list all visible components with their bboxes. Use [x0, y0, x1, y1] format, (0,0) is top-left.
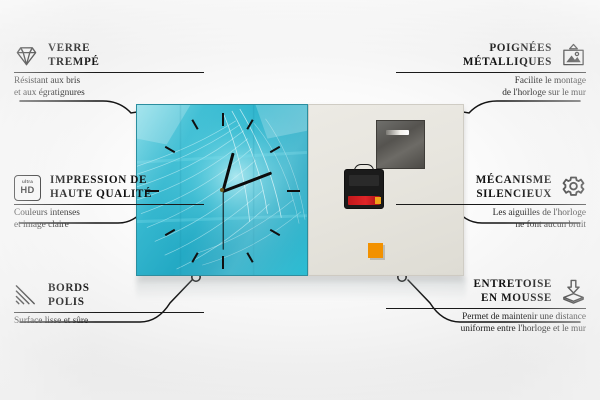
handle-slot [386, 130, 409, 135]
clock-hand-second [222, 192, 223, 250]
feature-description: Les aiguilles de l'horloge ne font aucun… [396, 208, 586, 231]
feature-title: POIGNÉES MÉTALLIQUES [463, 42, 552, 69]
clock-center-cap [220, 188, 224, 192]
feature-description: Permet de maintenir une distance uniform… [386, 312, 586, 335]
feature-divider [14, 72, 204, 73]
clock-tick [222, 256, 224, 269]
feature-divider [396, 72, 586, 73]
diamond-icon [14, 43, 39, 68]
battery-terminal [375, 197, 381, 204]
feature-title: IMPRESSION DE HAUTE QUALITÉ [50, 174, 152, 201]
feature-description: Surface lisse et sûre [14, 316, 204, 327]
polished-edge-icon [14, 283, 39, 308]
feature-description: Facilite le montage de l'horloge sur le … [396, 76, 586, 99]
ultra-hd-icon-main-label: HD [20, 185, 34, 194]
feature-description: Couleurs intenses et image claire [14, 208, 204, 231]
feature-title: MÉCANISME SILENCIEUX [476, 174, 552, 201]
feature-description: Résistant aux bris et aux égratignures [14, 76, 204, 99]
clock-tick [222, 113, 224, 126]
feature-header: ultra HD IMPRESSION DE HAUTE QUALITÉ [14, 174, 204, 201]
feature-bords-polis: BORDS POLIS Surface lisse et sûre [14, 282, 204, 328]
feature-mecanisme-silencieux: MÉCANISME SILENCIEUX Les aiguilles de l'… [396, 174, 586, 231]
feature-header: BORDS POLIS [14, 282, 204, 309]
metal-handle-plate [376, 120, 425, 169]
gear-icon [561, 175, 586, 200]
hanging-frame-icon [561, 43, 586, 68]
mechanism-bail [354, 164, 374, 173]
feature-title: BORDS POLIS [48, 282, 90, 309]
feature-divider [396, 204, 586, 205]
feature-header: POIGNÉES MÉTALLIQUES [396, 42, 586, 69]
mechanism-housing [349, 175, 379, 186]
foam-spacer-icon [561, 279, 586, 304]
feature-entretoise-en-mousse: ENTRETOISE EN MOUSSE Permet de maintenir… [386, 278, 586, 335]
feature-title: VERRE TREMPÉ [48, 42, 99, 69]
feature-header: ENTRETOISE EN MOUSSE [386, 278, 586, 305]
clock-tick [287, 190, 300, 192]
feature-verre-trempe: VERRE TREMPÉ Résistant aux bris et aux é… [14, 42, 204, 99]
feature-title: ENTRETOISE EN MOUSSE [473, 278, 552, 305]
feature-divider [386, 308, 586, 309]
infographic-canvas: VERRE TREMPÉ Résistant aux bris et aux é… [0, 0, 600, 400]
feature-divider [14, 312, 204, 313]
ultra-hd-icon: ultra HD [14, 175, 41, 201]
feature-divider [14, 204, 204, 205]
feature-header: MÉCANISME SILENCIEUX [396, 174, 586, 201]
feature-header: VERRE TREMPÉ [14, 42, 204, 69]
feature-poignees-metalliques: POIGNÉES MÉTALLIQUES Facilite le montage… [396, 42, 586, 99]
foam-spacer [368, 243, 383, 258]
feature-impression-haute-qualite: ultra HD IMPRESSION DE HAUTE QUALITÉ Cou… [14, 174, 204, 231]
clock-mechanism [344, 169, 384, 209]
